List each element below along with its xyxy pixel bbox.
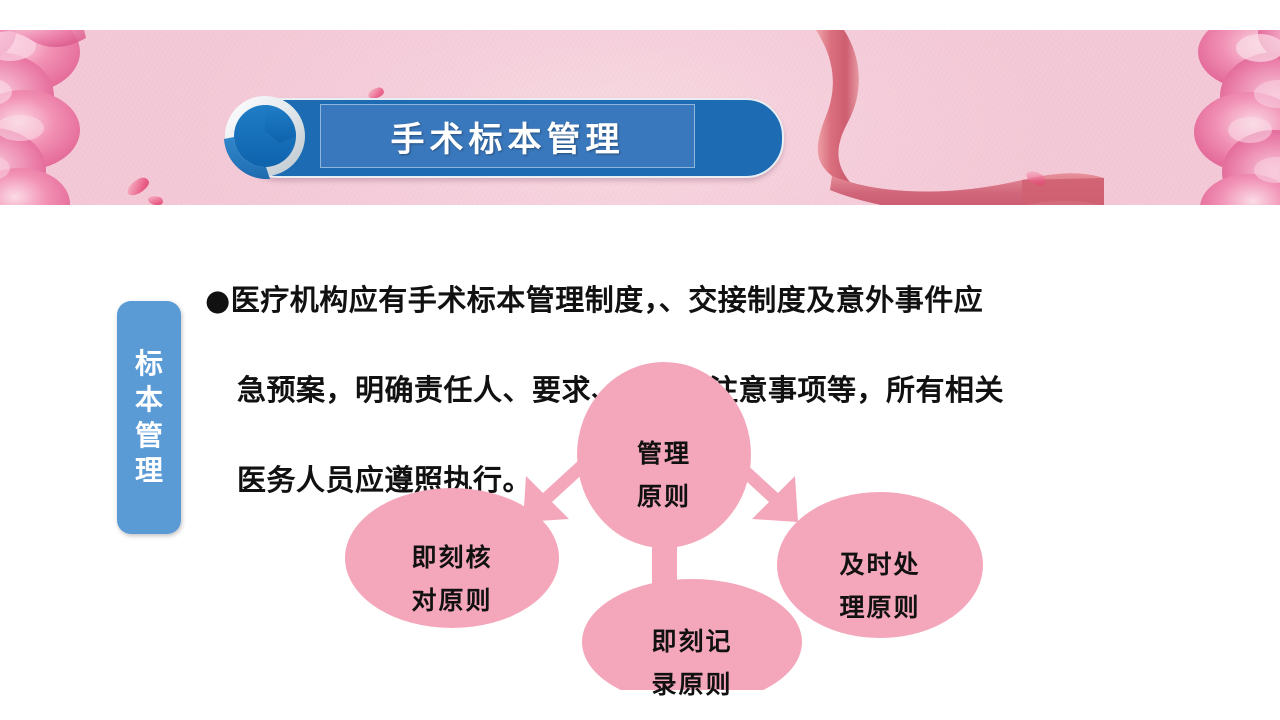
slide-canvas: 手术标本管理 [0,0,1280,720]
petal-1 [124,175,151,198]
node-right-label: 及时处 理原则 [790,543,970,629]
ribbon-decoration [786,30,1116,205]
sidebar-tab-label: 标 本 管 理 [135,346,163,489]
sidebar-tab-specimen-management[interactable]: 标 本 管 理 [117,301,181,534]
node-center-label: 管理 原则 [604,432,724,518]
flower-right-decoration [1164,30,1280,205]
node-bottom-label: 即刻记 录原则 [602,620,782,706]
node-right-line-2: 理原则 [790,586,970,629]
node-left-line-2: 对原则 [362,579,542,622]
petal-3 [1024,167,1047,188]
sidebar-tab-char-1: 标 [135,346,163,382]
node-center-line-1: 管理 [604,432,724,475]
node-center-line-2: 原则 [604,475,724,518]
header-banner: 手术标本管理 [0,30,1280,205]
petal-2 [147,194,164,205]
sidebar-tab-char-3: 管 [135,418,163,454]
sidebar-tab-char-2: 本 [135,382,163,418]
node-right-line-1: 及时处 [790,543,970,586]
sidebar-tab-char-4: 理 [135,453,163,489]
title-banner: 手术标本管理 [222,93,782,179]
page-title: 手术标本管理 [320,104,695,168]
ring-logo-icon [222,93,308,179]
management-principles-diagram: 管理 原则 即刻核 对原则 即刻记 录原则 及时处 理原则 [300,350,1020,690]
node-bottom-line-2: 录原则 [602,663,782,706]
flower-left-decoration [0,30,118,205]
node-bottom-line-1: 即刻记 [602,620,782,663]
node-left-line-1: 即刻核 [362,536,542,579]
body-line-1: ●医疗机构应有手术标本管理制度，、交接制度及意外事件应 [205,278,1263,323]
node-left-label: 即刻核 对原则 [362,536,542,622]
